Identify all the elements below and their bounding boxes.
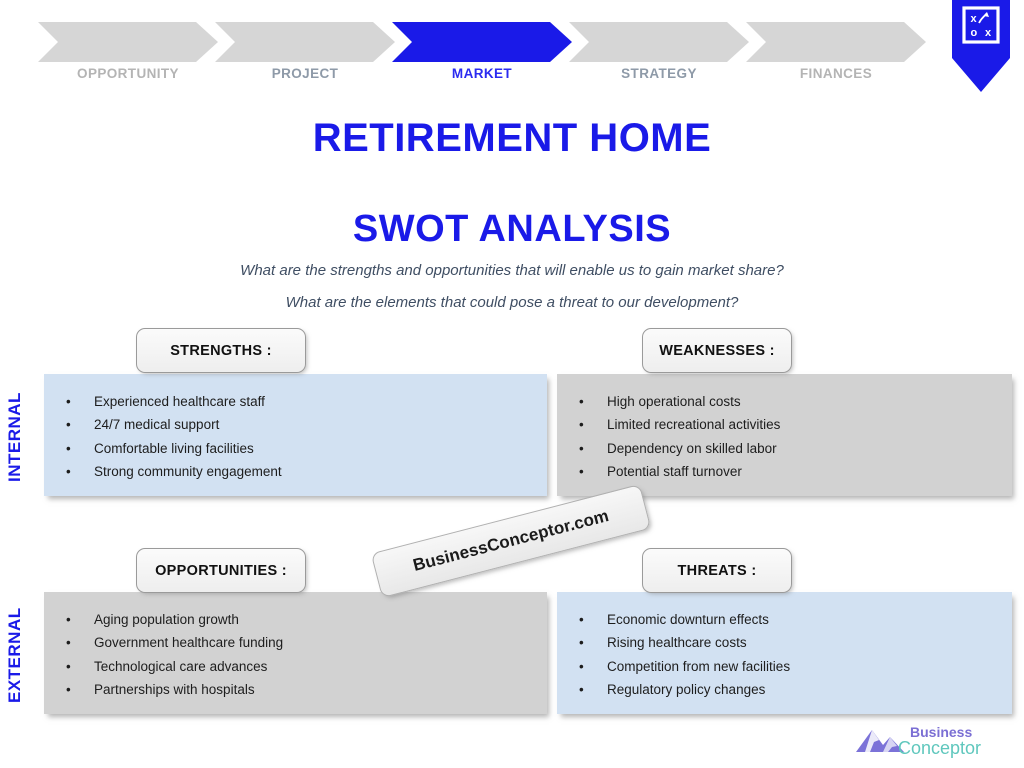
chevron-shape-finances [746, 22, 926, 62]
list-item: Technological care advances [44, 655, 547, 678]
list-item: Dependency on skilled labor [557, 437, 1012, 460]
nav-label-market: MARKET [392, 66, 572, 81]
brand-logo-svg: Business Conceptor [852, 720, 1010, 760]
list-item: Government healthcare funding [44, 631, 547, 654]
brand-word-conceptor: Conceptor [898, 738, 981, 758]
nav-step-market[interactable]: MARKET [392, 22, 572, 62]
brand-logo: Business Conceptor [852, 720, 1010, 760]
svg-text:o: o [971, 27, 978, 39]
process-nav-bar: OPPORTUNITY PROJECT MARKET STRATEGY FINA… [0, 0, 1024, 96]
swot-panel-strengths: Experienced healthcare staff 24/7 medica… [44, 374, 547, 496]
threats-list: Economic downturn effects Rising healthc… [557, 608, 1012, 702]
swot-panel-threats: Economic downturn effects Rising healthc… [557, 592, 1012, 714]
chevron-shape-market [392, 22, 572, 62]
list-item: 24/7 medical support [44, 413, 547, 436]
question-line-1: What are the strengths and opportunities… [0, 262, 1024, 279]
list-item: Rising healthcare costs [557, 631, 1012, 654]
list-item: Strong community engagement [44, 460, 547, 483]
list-item: Economic downturn effects [557, 608, 1012, 631]
swot-title-opportunities: OPPORTUNITIES : [136, 548, 306, 593]
chevron-shape-project [215, 22, 395, 62]
list-item: Aging population growth [44, 608, 547, 631]
list-item: Comfortable living facilities [44, 437, 547, 460]
swot-panel-weaknesses: High operational costs Limited recreatio… [557, 374, 1012, 496]
axis-label-internal: INTERNAL [5, 378, 39, 496]
list-item: High operational costs [557, 390, 1012, 413]
list-item: Partnerships with hospitals [44, 678, 547, 701]
nav-label-project: PROJECT [215, 66, 395, 81]
question-line-2: What are the elements that could pose a … [0, 294, 1024, 311]
nav-step-finances[interactable]: FINANCES [746, 22, 926, 62]
list-item: Potential staff turnover [557, 460, 1012, 483]
weaknesses-list: High operational costs Limited recreatio… [557, 390, 1012, 484]
watermark-banner: BusinessConceptor.com [371, 484, 652, 598]
mountains-icon [856, 730, 904, 752]
nav-step-opportunity[interactable]: OPPORTUNITY [38, 22, 218, 62]
swot-title-strengths: STRENGTHS : [136, 328, 306, 373]
page-title: RETIREMENT HOME [0, 116, 1024, 161]
nav-label-strategy: STRATEGY [569, 66, 749, 81]
nav-step-project[interactable]: PROJECT [215, 22, 395, 62]
list-item: Competition from new facilities [557, 655, 1012, 678]
svg-text:x: x [985, 27, 992, 39]
opportunities-list: Aging population growth Government healt… [44, 608, 547, 702]
list-item: Experienced healthcare staff [44, 390, 547, 413]
page-subtitle: SWOT ANALYSIS [0, 208, 1024, 251]
strategy-playbook-icon: x o x [952, 0, 1010, 92]
swot-title-weaknesses: WEAKNESSES : [642, 328, 792, 373]
strengths-list: Experienced healthcare staff 24/7 medica… [44, 390, 547, 484]
list-item: Limited recreational activities [557, 413, 1012, 436]
nav-label-finances: FINANCES [746, 66, 926, 81]
swot-title-threats: THREATS : [642, 548, 792, 593]
svg-text:x: x [971, 13, 978, 25]
nav-step-strategy[interactable]: STRATEGY [569, 22, 749, 62]
chevron-shape-strategy [569, 22, 749, 62]
nav-label-opportunity: OPPORTUNITY [38, 66, 218, 81]
chevron-shape-opportunity [38, 22, 218, 62]
list-item: Regulatory policy changes [557, 678, 1012, 701]
axis-label-external: EXTERNAL [5, 596, 39, 714]
swot-panel-opportunities: Aging population growth Government healt… [44, 592, 547, 714]
